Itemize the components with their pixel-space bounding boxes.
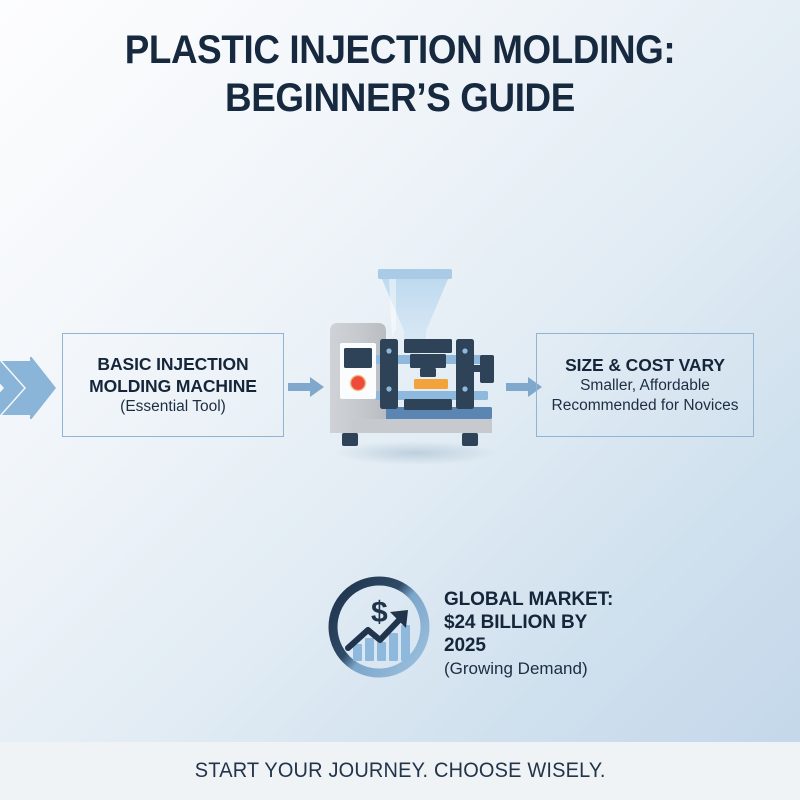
market-stat-text: GLOBAL MARKET: $24 BILLION BY 2025 (Grow… xyxy=(444,588,764,681)
infographic-canvas: PLASTIC INJECTION MOLDING: BEGINNER’S GU… xyxy=(0,0,800,800)
right-box-subtext-line-2: Recommended for Novices xyxy=(552,396,739,416)
mold-platen-nozzle xyxy=(420,368,436,377)
market-heading-line-3: 2025 xyxy=(444,634,764,657)
mold-platen-upper xyxy=(404,339,452,353)
footer-band: START YOUR JOURNEY. CHOOSE WISELY. xyxy=(0,742,800,800)
callout-box-machine[interactable]: BASIC INJECTION MOLDING MACHINE (Essenti… xyxy=(62,333,284,437)
hopper-lid-bar xyxy=(378,269,452,279)
right-box-heading: SIZE & COST VARY xyxy=(565,354,725,376)
market-subtext: (Growing Demand) xyxy=(444,657,764,681)
injection-molding-machine-illustration xyxy=(316,255,516,475)
market-heading-line-2: $24 BILLION BY xyxy=(444,611,764,634)
page-title: PLASTIC INJECTION MOLDING: BEGINNER’S GU… xyxy=(0,26,800,122)
left-box-subtext: (Essential Tool) xyxy=(120,397,226,417)
machine-foot-left xyxy=(342,433,358,446)
growth-chart-circle-icon: $ xyxy=(324,572,434,682)
mold-platen-mid xyxy=(410,354,446,368)
double-chevron-arrow-icon xyxy=(0,357,58,419)
machine-foot-right xyxy=(462,433,478,446)
footer-tagline: START YOUR JOURNEY. CHOOSE WISELY. xyxy=(195,759,606,783)
machine-body-lower xyxy=(352,419,492,433)
left-box-heading-line-2: MOLDING MACHINE xyxy=(89,375,257,397)
title-line-1: PLASTIC INJECTION MOLDING: xyxy=(32,26,768,74)
hydraulic-cylinder xyxy=(480,355,494,383)
market-heading-line-1: GLOBAL MARKET: xyxy=(444,588,764,611)
right-box-subtext-line-1: Smaller, Affordable xyxy=(580,376,710,396)
bar-chart-icon xyxy=(353,625,410,661)
left-box-heading-line-1: BASIC INJECTION xyxy=(97,353,248,375)
dollar-sign-icon: $ xyxy=(371,596,388,629)
process-flow-row: BASIC INJECTION MOLDING MACHINE (Essenti… xyxy=(0,255,800,475)
orange-molded-part xyxy=(414,379,448,389)
callout-box-size-cost[interactable]: SIZE & COST VARY Smaller, Affordable Rec… xyxy=(536,333,754,437)
title-line-2: BEGINNER’S GUIDE xyxy=(32,74,768,122)
mold-platen-lower xyxy=(404,399,452,410)
control-screen xyxy=(344,348,372,368)
market-stat-block: $ GLOBAL MARKET: $24 BILLION BY 2025 (Gr… xyxy=(0,568,800,698)
